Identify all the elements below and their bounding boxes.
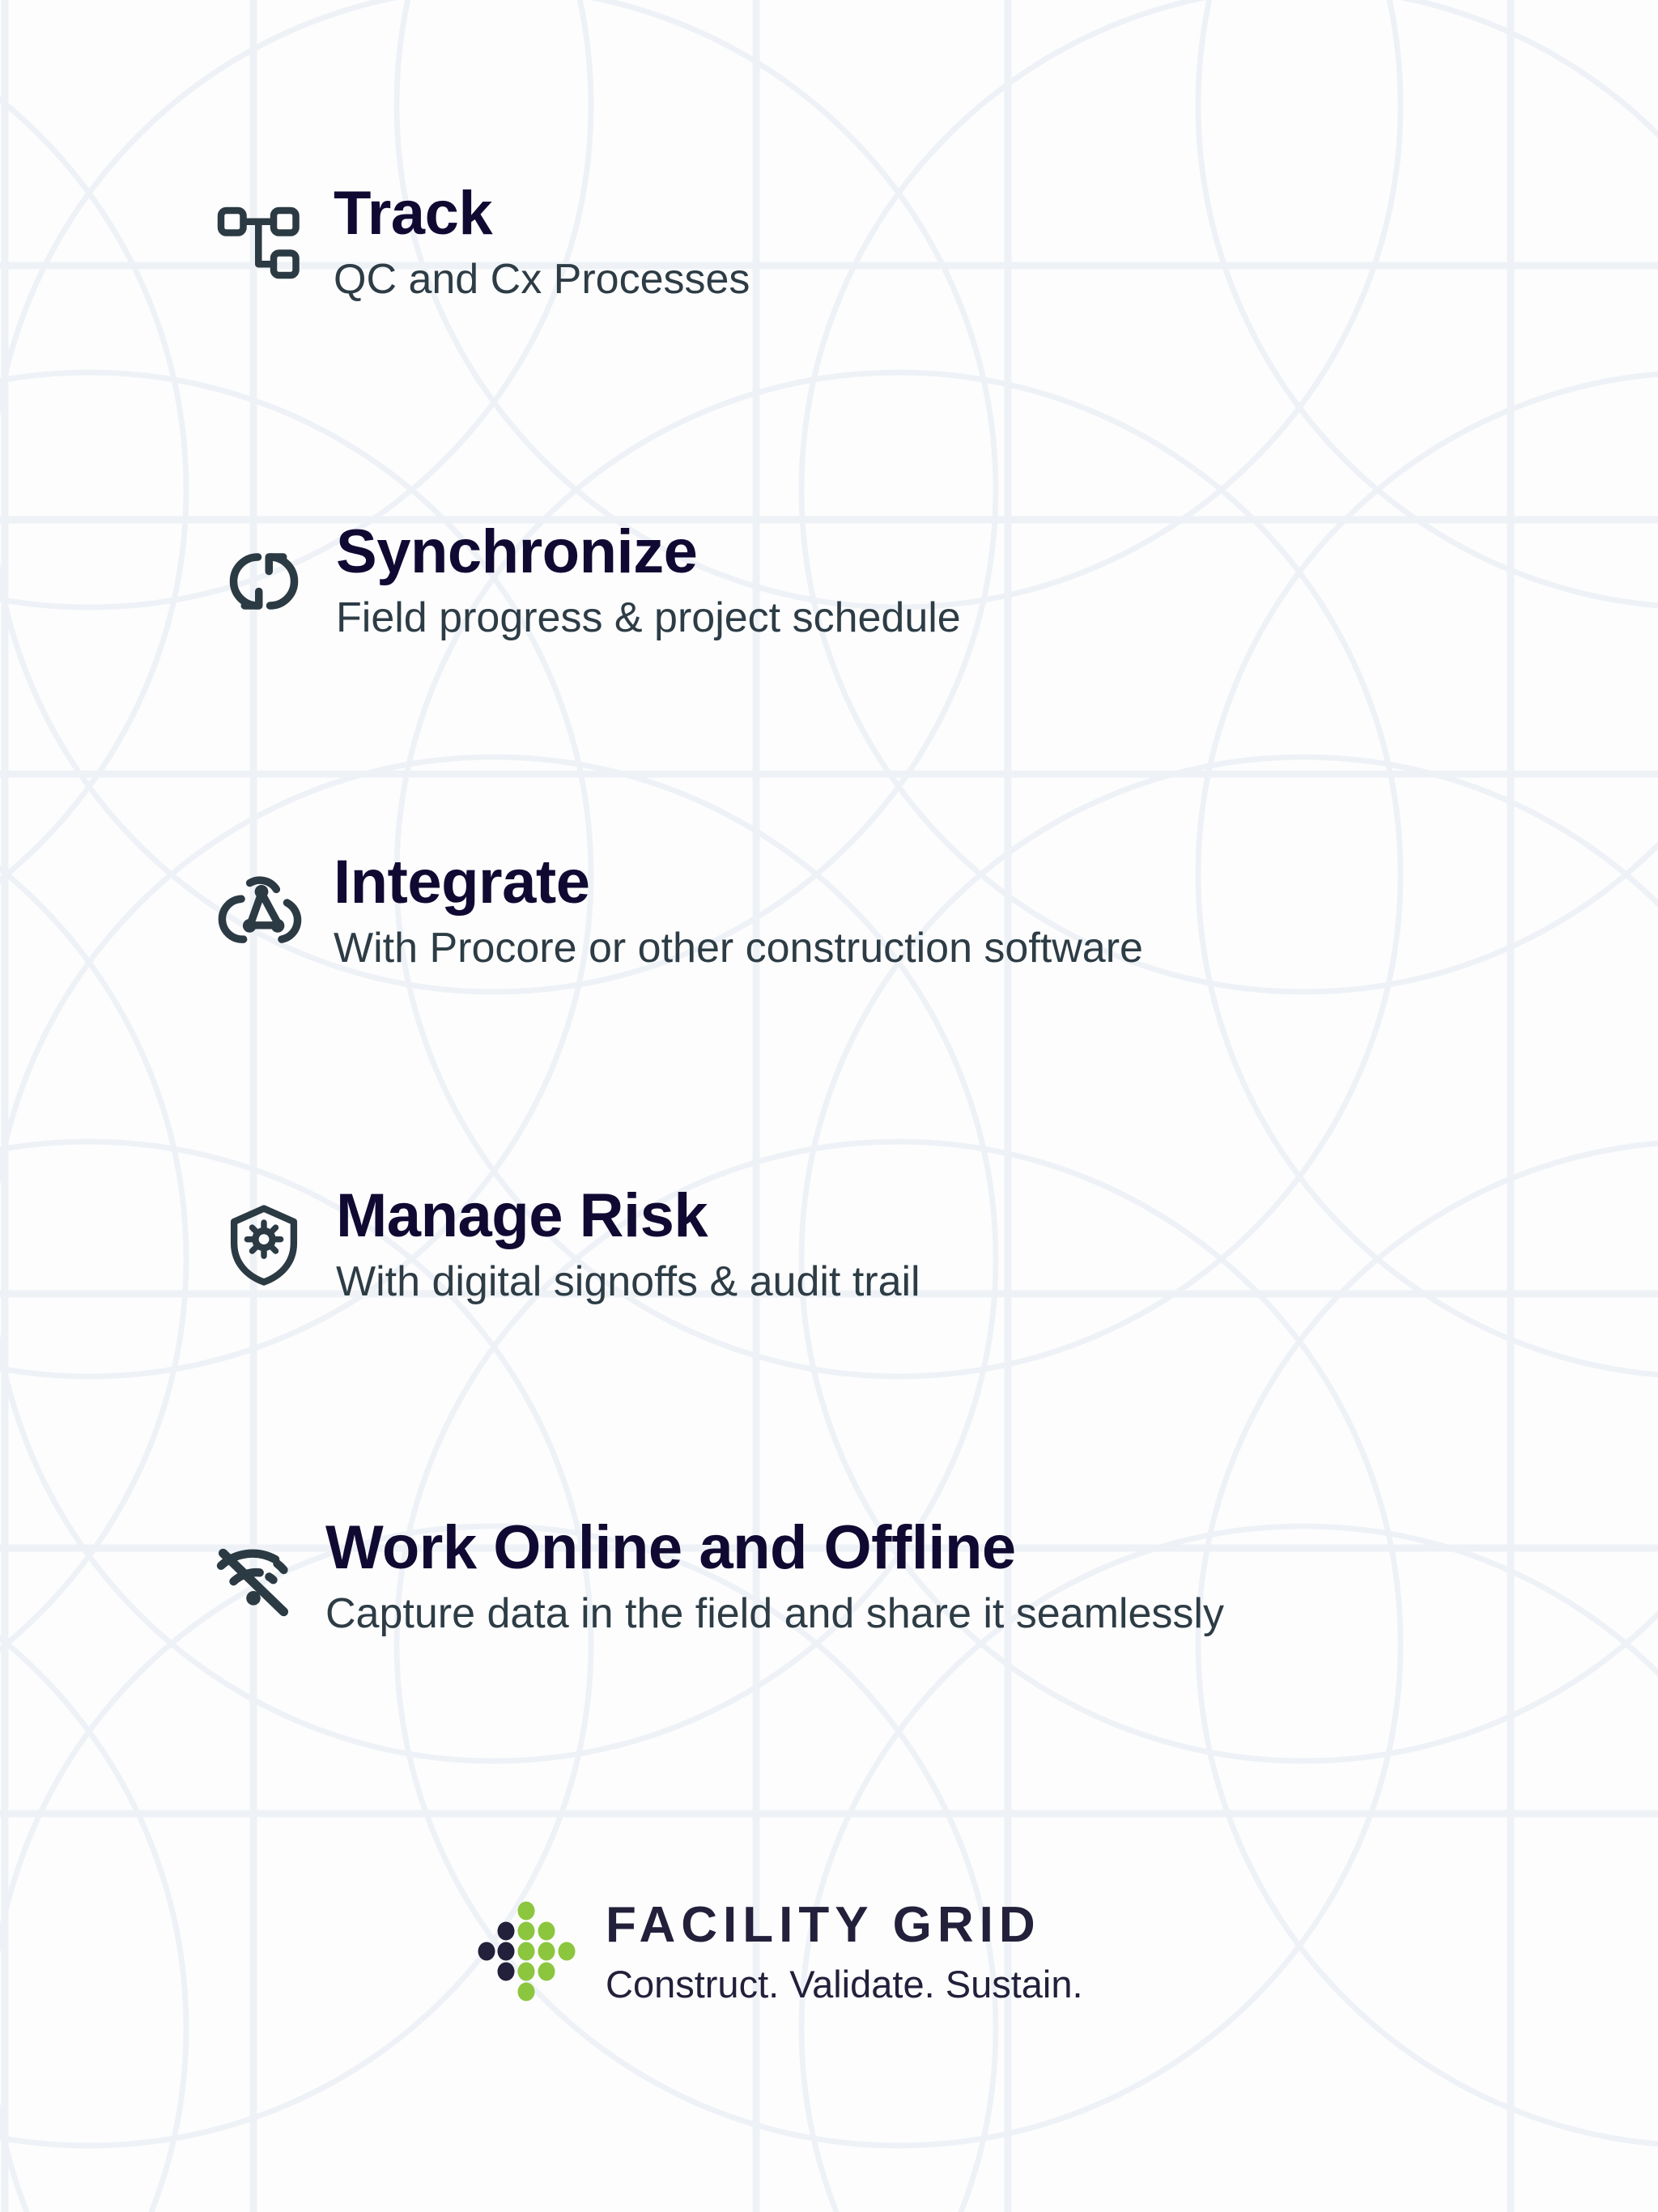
logo-tagline: Construct. Validate. Sustain. <box>606 1965 1083 2003</box>
feature-subtitle: Field progress & project schedule <box>336 594 961 643</box>
feature-text-track: Track QC and Cx Processes <box>316 183 750 304</box>
wifi-off-icon <box>198 1522 308 1631</box>
feature-title: Synchronize <box>336 521 961 583</box>
feature-item-work-online-offline: Work Online and Offline Capture data in … <box>198 1522 1224 1639</box>
feature-title: Manage Risk <box>336 1185 920 1247</box>
feature-subtitle: With digital signoffs & audit trail <box>336 1258 920 1307</box>
feature-subtitle: With Procore or other construction softw… <box>334 925 1143 973</box>
feature-title: Integrate <box>334 852 1143 913</box>
logo-wordmark: FACILITY GRID Construct. Validate. Susta… <box>576 1900 1083 2003</box>
feature-item-integrate: Integrate With Procore or other construc… <box>206 857 1143 973</box>
logo-company-name: FACILITY GRID <box>606 1900 1083 1950</box>
feature-item-track: Track QC and Cx Processes <box>206 188 750 304</box>
feature-subtitle: Capture data in the field and share it s… <box>325 1590 1224 1639</box>
feature-subtitle: QC and Cx Processes <box>334 256 750 304</box>
poster-page: Track QC and Cx Processes Synchronize Fi… <box>0 0 1658 2212</box>
feature-title: Work Online and Offline <box>325 1517 1224 1579</box>
webhook-integration-icon <box>206 857 316 966</box>
feature-item-manage-risk: Manage Risk With digital signoffs & audi… <box>209 1190 920 1307</box>
hierarchy-icon <box>206 188 316 297</box>
feature-item-synchronize: Synchronize Field progress & project sch… <box>209 526 961 643</box>
feature-title: Track <box>334 183 750 245</box>
feature-text-synchronize: Synchronize Field progress & project sch… <box>318 521 961 643</box>
feature-text-integrate: Integrate With Procore or other construc… <box>316 852 1143 973</box>
sync-arrows-icon <box>209 526 318 636</box>
facility-grid-dot-diamond-icon <box>478 1899 576 2004</box>
feature-text-manage-risk: Manage Risk With digital signoffs & audi… <box>318 1185 920 1307</box>
shield-gear-icon <box>209 1190 318 1300</box>
feature-text-work-online-offline: Work Online and Offline Capture data in … <box>308 1517 1224 1639</box>
background-pattern <box>0 0 1658 2212</box>
facility-grid-logo: FACILITY GRID Construct. Validate. Susta… <box>478 1899 1083 2004</box>
